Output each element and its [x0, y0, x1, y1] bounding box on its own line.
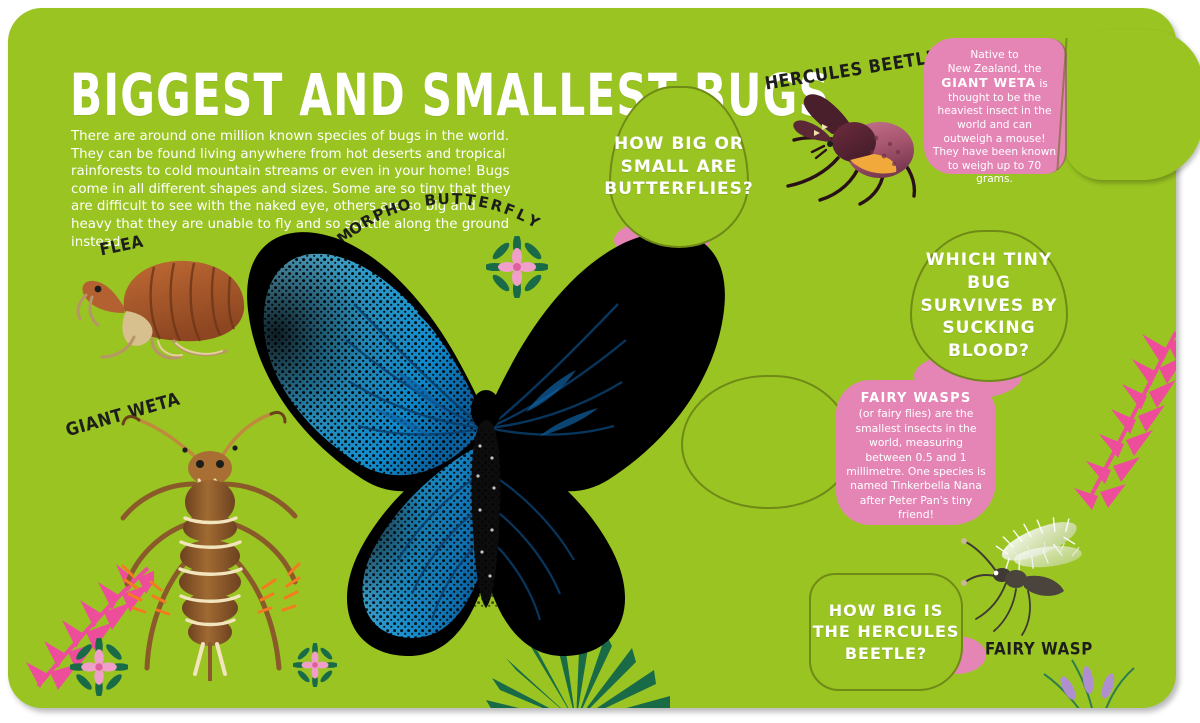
- book-spread-page: BIGGEST AND SMALLEST BUGS There are arou…: [0, 0, 1200, 723]
- flap-question-fairy-wasp[interactable]: [681, 375, 853, 509]
- flap-question-hercules[interactable]: HOW BIG IS THE HERCULES BEETLE?: [809, 573, 963, 691]
- open-flap-tab[interactable]: [1063, 30, 1200, 180]
- arc-letter: B: [423, 191, 436, 210]
- pink-fern-right: [1056, 326, 1176, 526]
- flea-illustration: [70, 251, 255, 361]
- flap-question-text: HOW BIG IS THE HERCULES BEETLE?: [811, 600, 961, 664]
- panel-line-2: New Zealand, the: [948, 63, 1042, 75]
- panel-line-4: to be the heaviest insect in the world a…: [933, 92, 1056, 186]
- panel-body: (or fairy flies) are the smallest insect…: [846, 407, 985, 521]
- flap-question-text: HOW BIG OR SMALL ARE BUTTERFLIES?: [604, 133, 754, 201]
- hercules-beetle-illustration: [768, 86, 923, 206]
- page-card: BIGGEST AND SMALLEST BUGS There are arou…: [8, 8, 1176, 708]
- flap-question-text: WHICH TINY BUG SURVIVES BY SUCKING BLOOD…: [912, 249, 1066, 363]
- arc-letter: U: [437, 190, 450, 208]
- flap-question-blood[interactable]: WHICH TINY BUG SURVIVES BY SUCKING BLOOD…: [910, 230, 1068, 382]
- fairy-wasp-illustration: [956, 513, 1091, 643]
- info-panel-fairy-wasps: FAIRY WASPS (or fairy flies) are the sma…: [836, 380, 996, 525]
- panel-line-1: Native to: [970, 49, 1018, 61]
- arc-letter: T: [464, 191, 476, 210]
- panel-keyword: GIANT WETA: [941, 75, 1036, 90]
- info-panel-giant-weta: Native to New Zealand, the GIANT WETA is…: [924, 38, 1067, 174]
- purple-grass: [1038, 658, 1148, 708]
- arc-letter: T: [452, 190, 463, 208]
- giant-weta-illustration: [103, 406, 333, 681]
- panel-header: FAIRY WASPS: [845, 392, 987, 406]
